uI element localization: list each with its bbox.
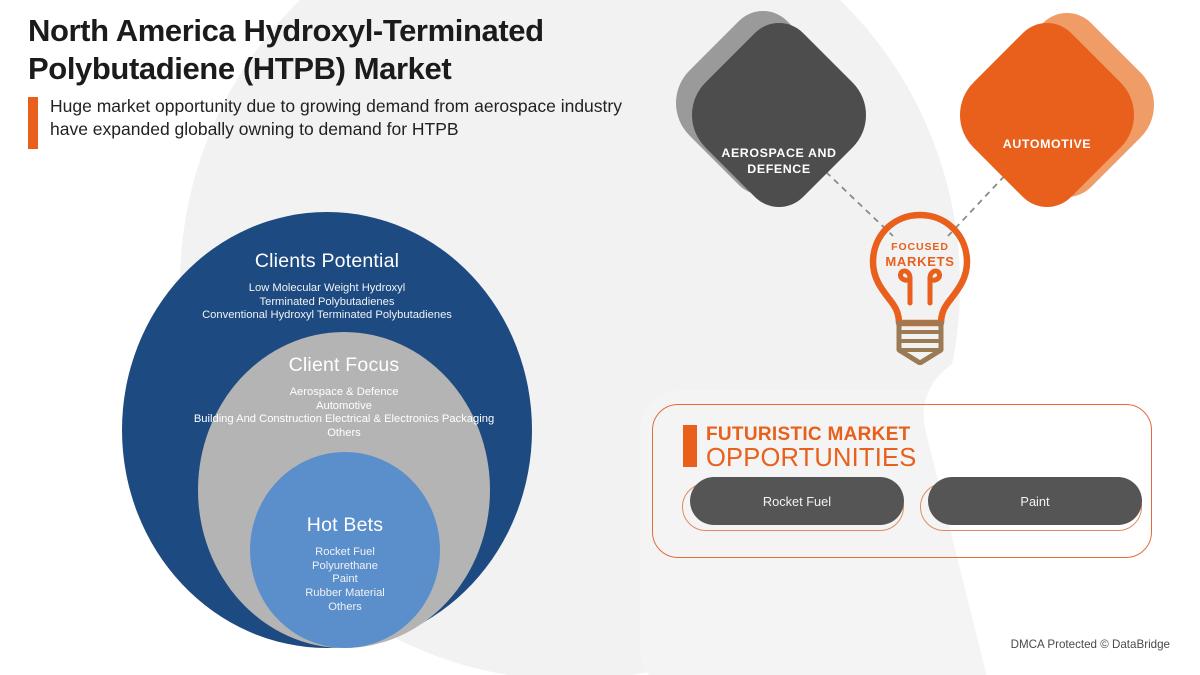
futuristic-accent-bar [683,425,697,467]
bulb-label-line2: MARKETS [855,254,985,270]
aerospace-shape [673,9,885,221]
bulb-label-line1: FOCUSED [855,241,985,254]
automotive-label: AUTOMOTIVE [962,137,1132,153]
automotive-shape [941,9,1153,221]
futuristic-heading-line2: OPPORTUNITIES [706,445,916,472]
lightbulb-icon [855,205,985,365]
opportunity-pill-rocket-fuel[interactable]: Rocket Fuel [682,477,904,531]
pill-label: Paint [1020,494,1049,509]
infographic-canvas: North America Hydroxyl-Terminated Polybu… [0,0,1200,675]
futuristic-heading-line1: FUTURISTIC MARKET [706,425,916,444]
market-segment-aerospace[interactable]: AEROSPACE AND DEFENCE [688,28,868,203]
futuristic-title-stack: FUTURISTIC MARKET OPPORTUNITIES [706,425,916,472]
bulb-label: FOCUSED MARKETS [855,241,985,270]
futuristic-heading: FUTURISTIC MARKET OPPORTUNITIES [683,425,916,472]
aerospace-label: AEROSPACE AND DEFENCE [694,146,864,178]
pill-label-wrap[interactable]: Rocket Fuel [690,477,904,525]
focused-markets-bulb: FOCUSED MARKETS [855,205,985,365]
market-segment-automotive[interactable]: AUTOMOTIVE [962,22,1147,197]
opportunity-pill-paint[interactable]: Paint [920,477,1142,531]
pill-label-wrap[interactable]: Paint [928,477,1142,525]
footer-copyright: DMCA Protected © DataBridge [1011,638,1170,651]
pill-label: Rocket Fuel [763,494,831,509]
